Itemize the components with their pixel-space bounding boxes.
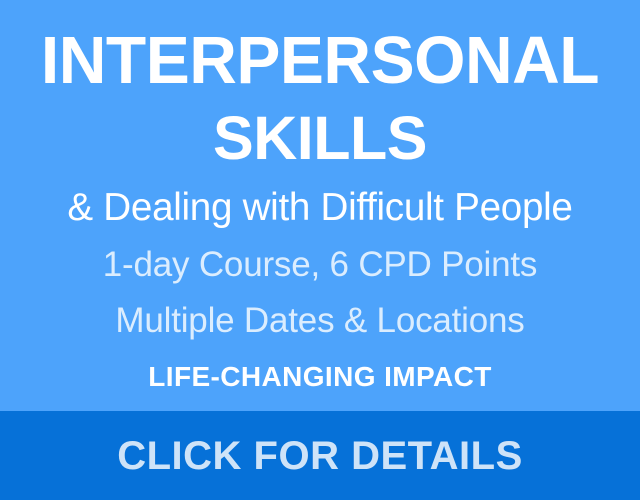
promo-banner: INTERPERSONAL SKILLS & Dealing with Diff…	[0, 0, 640, 500]
banner-content: INTERPERSONAL SKILLS & Dealing with Diff…	[0, 0, 640, 411]
click-for-details-button[interactable]: CLICK FOR DETAILS	[0, 411, 640, 500]
detail-line-course: 1-day Course, 6 CPD Points	[14, 247, 626, 282]
headline-line-2: SKILLS	[14, 108, 626, 169]
cta-label: CLICK FOR DETAILS	[117, 436, 523, 476]
impact-tagline: LIFE-CHANGING IMPACT	[14, 363, 626, 391]
headline-line-1: INTERPERSONAL	[19, 27, 622, 94]
detail-line-dates: Multiple Dates & Locations	[14, 303, 626, 338]
banner-subtitle: & Dealing with Difficult People	[17, 188, 623, 227]
